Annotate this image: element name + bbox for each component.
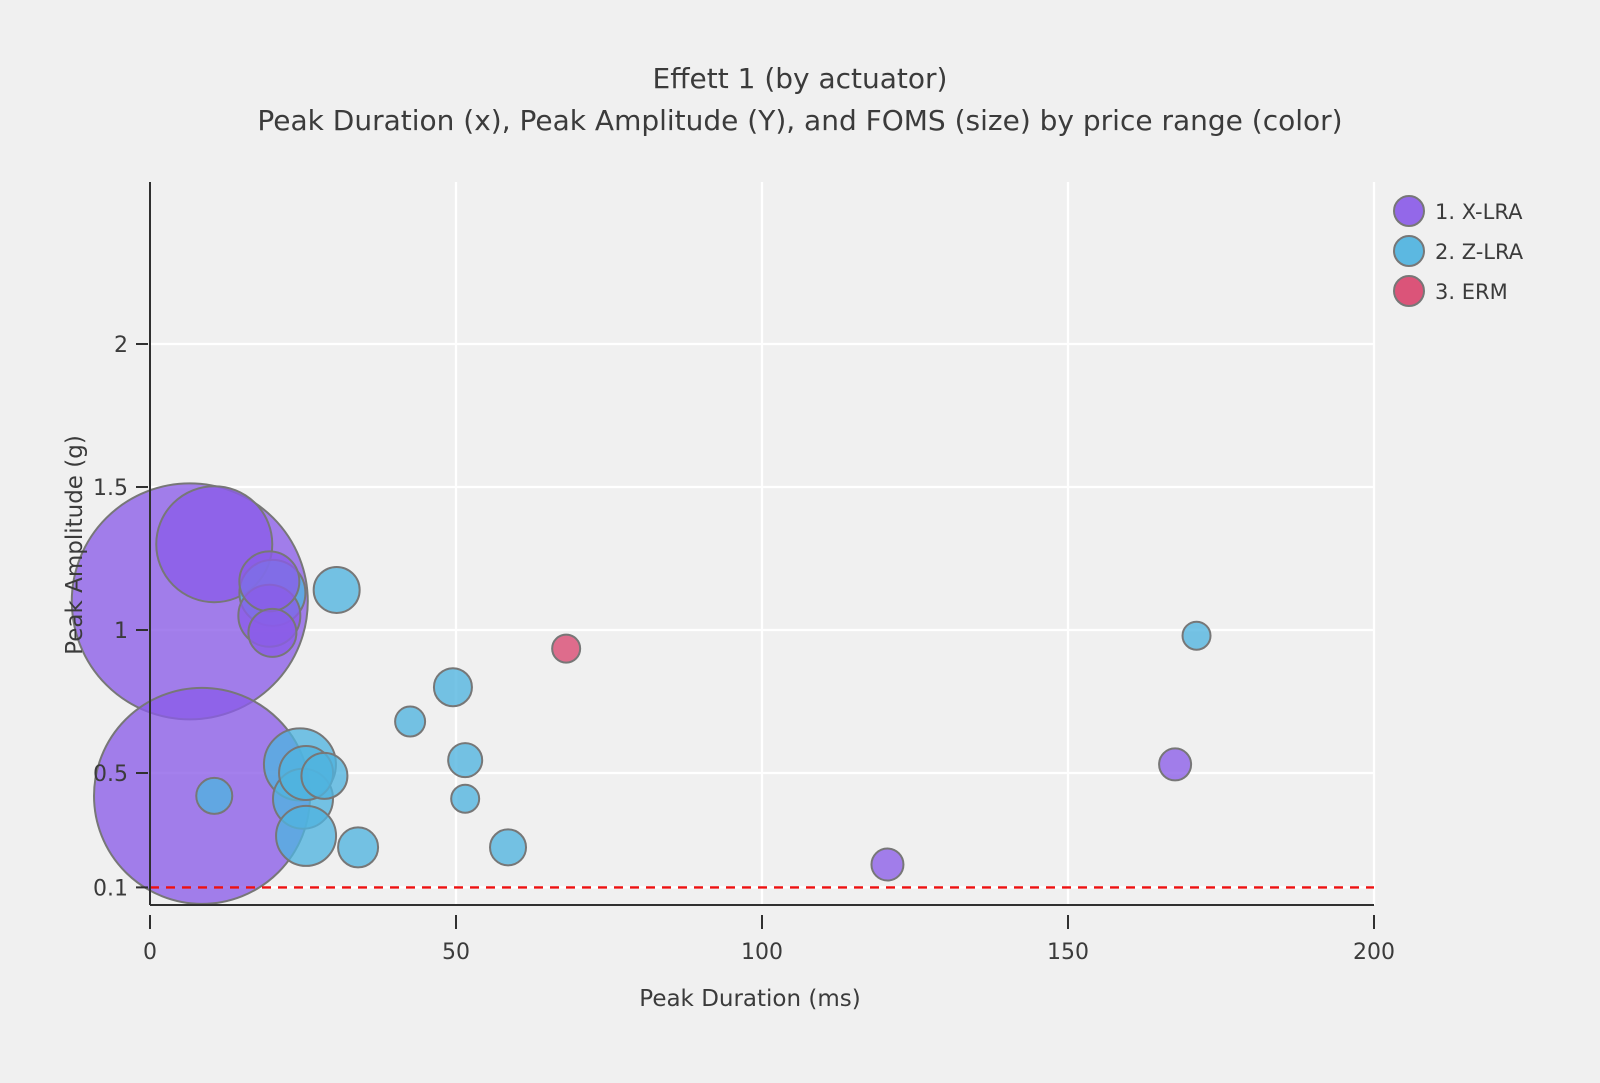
y-tick-label: 1 xyxy=(114,619,128,644)
bubble-point[interactable] xyxy=(239,551,299,611)
bubble-series-group xyxy=(72,483,1211,903)
legend-group: 1. X-LRA2. Z-LRA3. ERM xyxy=(1394,196,1524,306)
y-tick-label: 2 xyxy=(114,333,128,358)
legend-label[interactable]: 3. ERM xyxy=(1435,280,1508,304)
bubble-point[interactable] xyxy=(451,785,479,813)
x-tick-label: 100 xyxy=(741,940,783,965)
x-tick-label: 150 xyxy=(1047,940,1089,965)
bubble-point[interactable] xyxy=(395,707,425,737)
bubble-point[interactable] xyxy=(871,849,903,881)
y-tick-label: 0.5 xyxy=(93,762,128,787)
x-axis-label: Peak Duration (ms) xyxy=(639,986,860,1012)
legend-label[interactable]: 2. Z-LRA xyxy=(1435,240,1524,264)
bubble-point[interactable] xyxy=(196,778,232,814)
bubble-point[interactable] xyxy=(490,829,526,865)
bubble-point[interactable] xyxy=(434,668,472,706)
y-tick-label: 0.1 xyxy=(93,876,128,901)
legend-marker[interactable] xyxy=(1394,236,1424,266)
legend-marker[interactable] xyxy=(1394,276,1424,306)
legend-label[interactable]: 1. X-LRA xyxy=(1435,200,1523,224)
chart-figure: Effett 1 (by actuator) Peak Duration (x)… xyxy=(0,0,1600,1083)
bubble-point[interactable] xyxy=(301,753,347,799)
bubble-point[interactable] xyxy=(276,806,336,866)
bubble-point[interactable] xyxy=(1183,622,1211,650)
bubble-chart-plot: 0501001502000.10.511.52 1. X-LRA2. Z-LRA… xyxy=(0,0,1600,1083)
x-tick-label: 50 xyxy=(442,940,470,965)
bubble-point[interactable] xyxy=(314,567,360,613)
bubble-point[interactable] xyxy=(338,827,378,867)
y-axis-label: Peak Amplitude (g) xyxy=(62,435,88,655)
x-tick-label: 0 xyxy=(143,940,157,965)
bubble-point[interactable] xyxy=(552,635,580,663)
bubble-point[interactable] xyxy=(1159,748,1191,780)
bubble-point[interactable] xyxy=(448,743,482,777)
bubble-point[interactable] xyxy=(248,609,296,657)
y-tick-label: 1.5 xyxy=(93,476,128,501)
legend-marker[interactable] xyxy=(1394,196,1424,226)
x-tick-label: 200 xyxy=(1353,940,1395,965)
